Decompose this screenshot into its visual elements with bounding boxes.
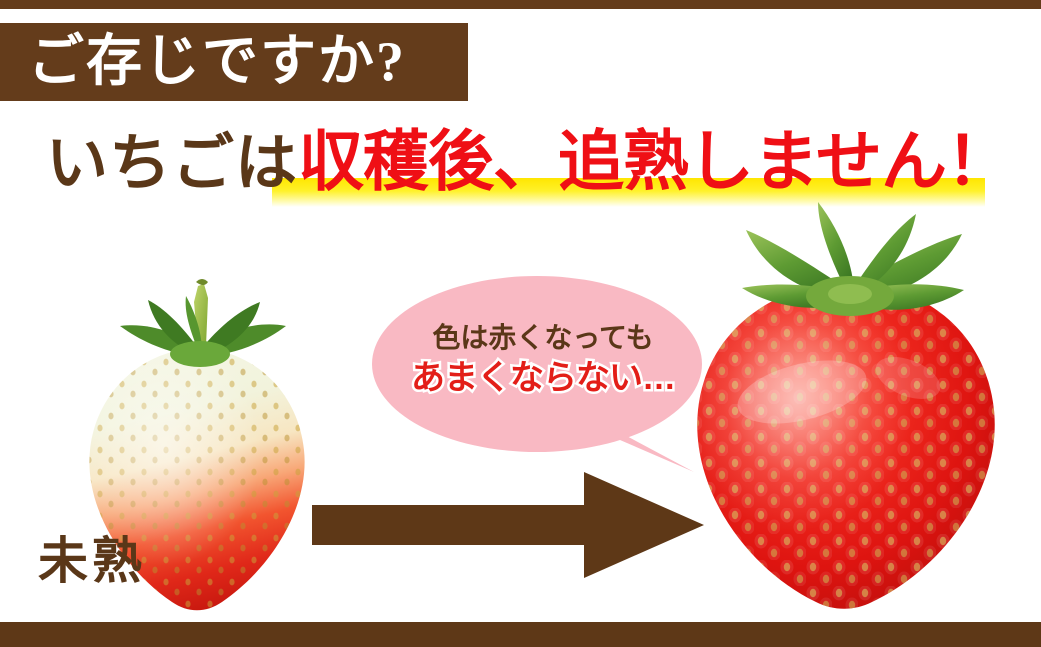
ripe-strawberry-image (676, 196, 1016, 624)
speech-bubble: 色は赤くなっても あまくならない… (372, 268, 714, 476)
label-unripe: 未熟 (38, 536, 146, 586)
bottom-rule (0, 622, 1041, 647)
right-arrow-icon (312, 470, 704, 580)
banner-title: ご存じですか? (0, 34, 406, 90)
top-rule (0, 0, 1041, 9)
bubble-line-1: 色は赤くなっても (432, 321, 653, 356)
header-banner: ご存じですか? (0, 23, 468, 101)
main-headline: いちごは収穫後、追熟しません！ (46, 122, 1036, 204)
bubble-line-2: あまくならない… (411, 358, 675, 399)
headline-emphasis: 収穫後、追熟しません！ (298, 126, 1011, 199)
poster-root: ご存じですか? いちごは収穫後、追熟しません！ (0, 0, 1041, 647)
headline-prefix: いちごは (46, 130, 298, 198)
